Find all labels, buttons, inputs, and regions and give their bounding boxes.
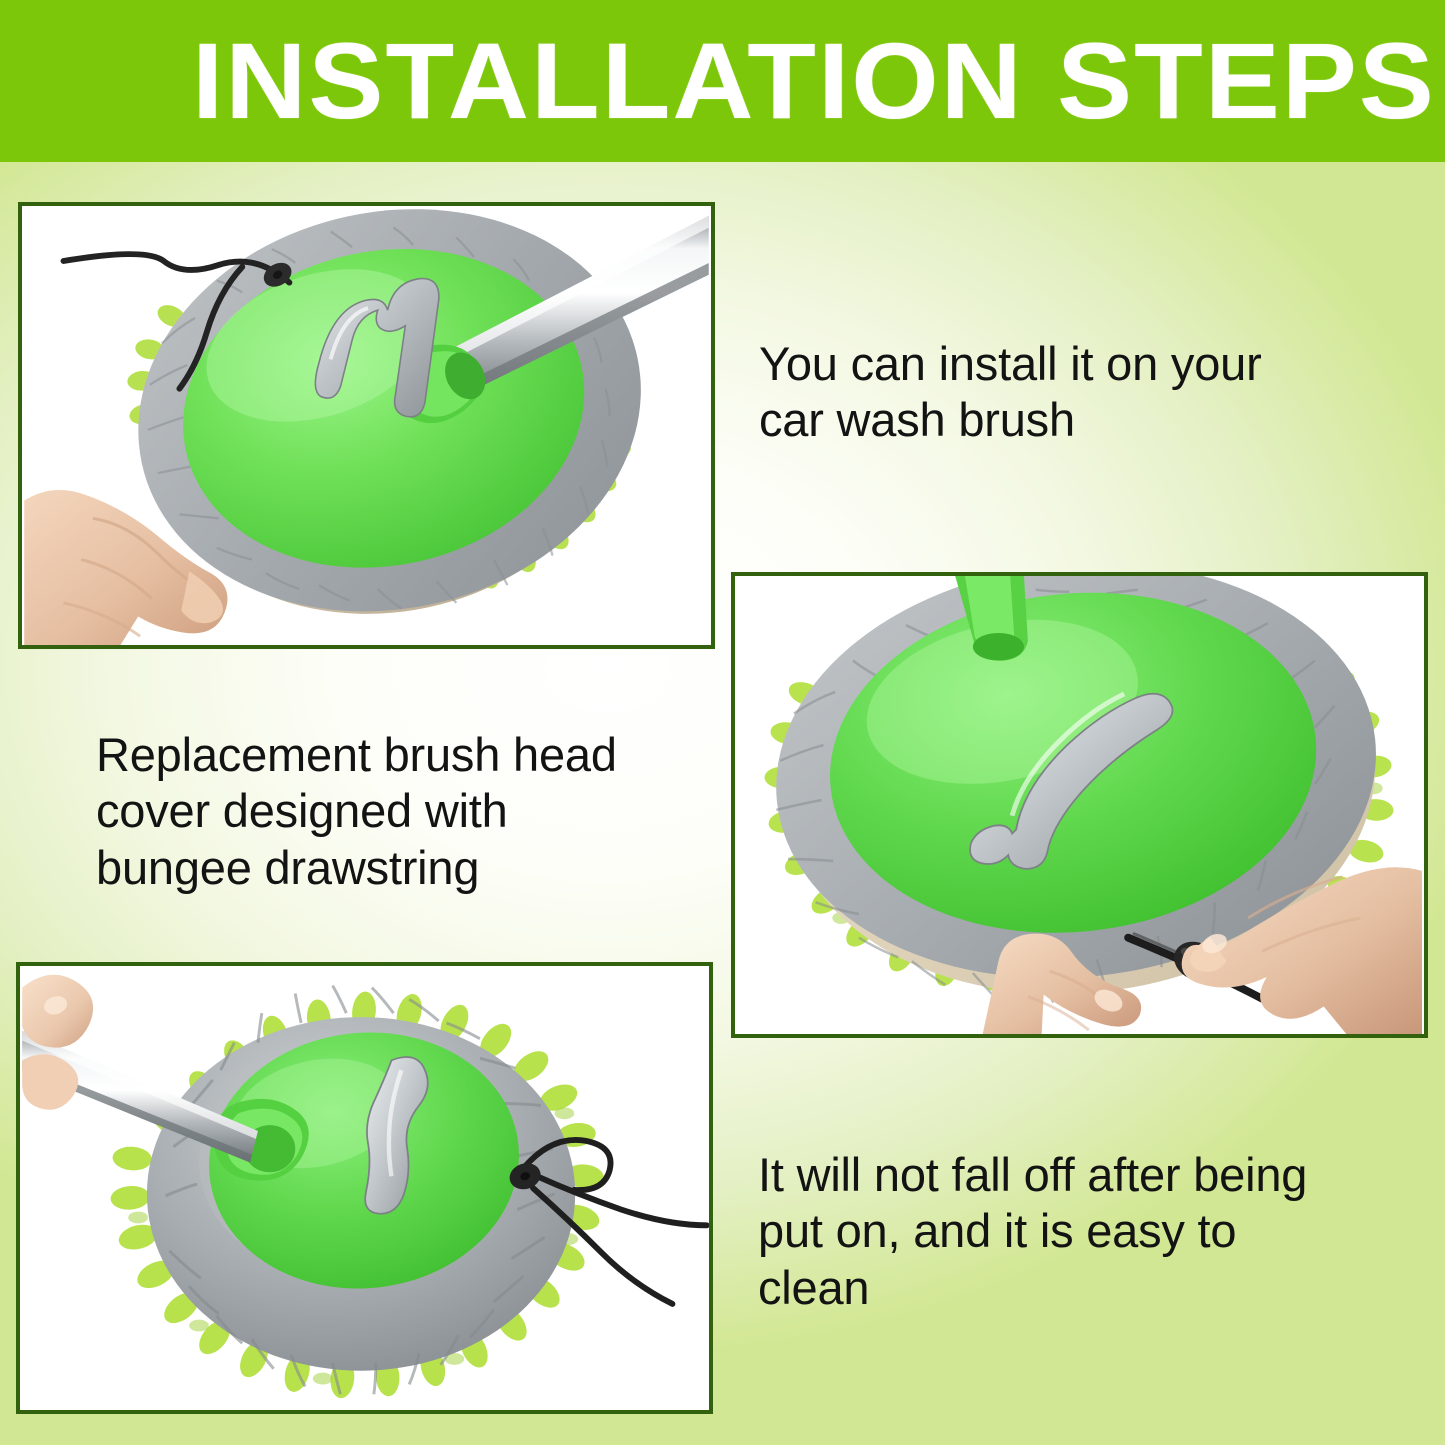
step-3-photo [16,962,713,1414]
step-1-caption: You can install it on your car wash brus… [759,336,1379,449]
step-1-photo [18,202,715,649]
step-3-caption: It will not fall off after being put on,… [758,1147,1388,1316]
step-2-photo [731,572,1428,1038]
infographic-stage: INSTALLATION STEPS [0,0,1445,1445]
step-2-caption: Replacement brush head cover designed wi… [96,727,696,896]
brush-head-with-pole-illustration [22,206,711,645]
installed-cover-illustration [20,966,709,1410]
page-title: INSTALLATION STEPS [192,27,1436,135]
bungee-drawstring-pull-illustration [735,576,1424,1034]
header-banner: INSTALLATION STEPS [0,0,1445,162]
